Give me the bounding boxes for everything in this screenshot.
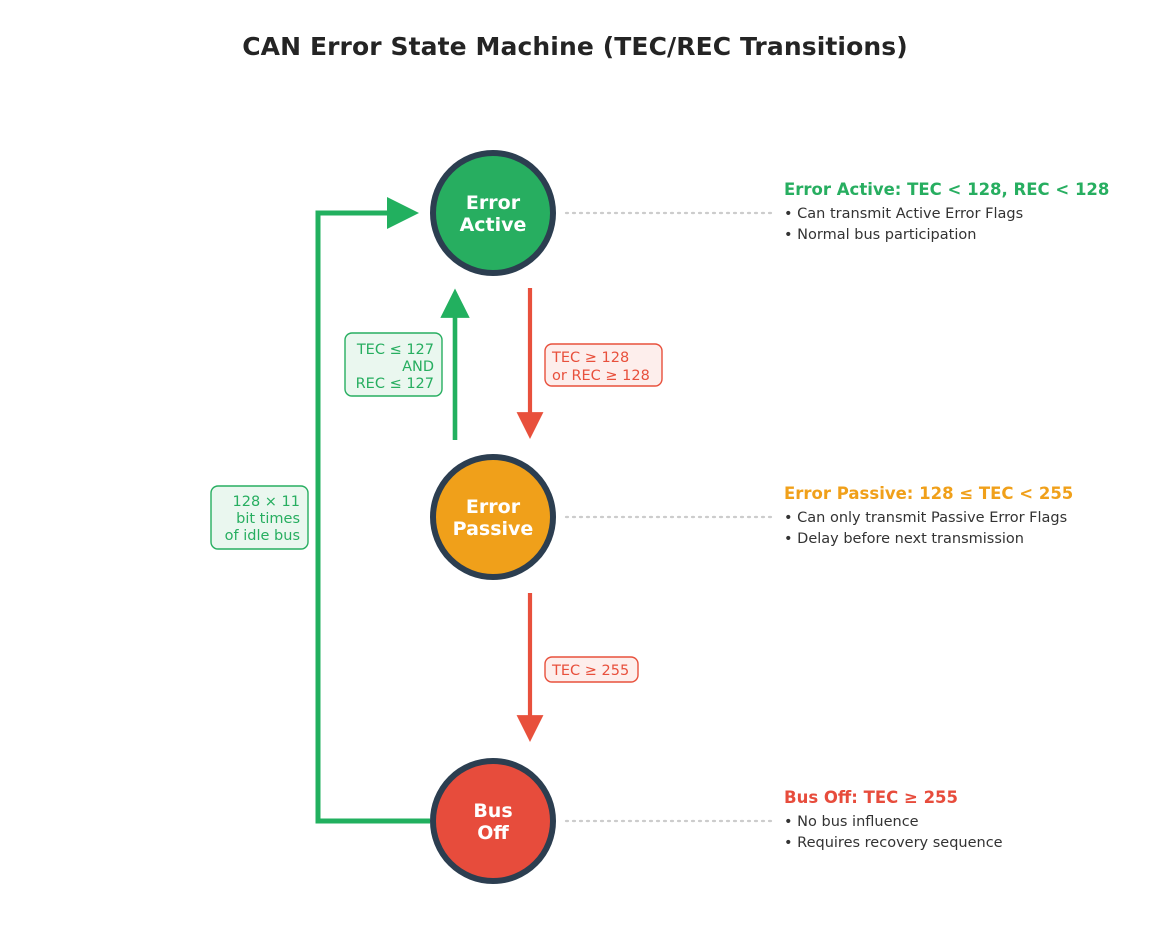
state-node-error-active[interactable]: Error Active — [433, 153, 553, 273]
transition-label-passive-to-busoff: TEC ≥ 255 — [545, 657, 638, 682]
annotation-bus-off-bullet-2: • Requires recovery sequence — [784, 833, 1003, 854]
transition-label-busoff-to-active-line2: bit times — [236, 511, 300, 527]
state-label-error-active-line2: Active — [460, 214, 527, 236]
transition-label-busoff-to-active-line3: of idle bus — [225, 528, 300, 544]
state-node-bus-off[interactable]: Bus Off — [433, 761, 553, 881]
transition-label-active-to-passive: TEC ≥ 128 or REC ≥ 128 — [545, 344, 662, 386]
annotation-bus-off: Bus Off: TEC ≥ 255 • No bus influence • … — [784, 788, 1003, 853]
transition-label-passive-to-active-line2: AND — [402, 359, 434, 375]
can-error-state-machine-diagram: CAN Error State Machine (TEC/REC Transit… — [0, 0, 1150, 947]
state-label-error-passive-line1: Error — [466, 496, 521, 518]
transition-label-active-to-passive-line2: or REC ≥ 128 — [552, 368, 650, 384]
annotation-bus-off-title: Bus Off: TEC ≥ 255 — [784, 788, 1003, 807]
transition-label-active-to-passive-line1: TEC ≥ 128 — [551, 350, 629, 366]
transition-label-passive-to-active-line3: REC ≤ 127 — [356, 376, 434, 392]
annotation-error-passive-bullet-2: • Delay before next transmission — [784, 529, 1073, 550]
annotation-error-passive-bullet-1: • Can only transmit Passive Error Flags — [784, 508, 1073, 529]
annotation-error-active: Error Active: TEC < 128, REC < 128 • Can… — [784, 180, 1109, 245]
transition-label-passive-to-active: TEC ≤ 127 AND REC ≤ 127 — [345, 333, 442, 396]
state-node-error-passive[interactable]: Error Passive — [433, 457, 553, 577]
edge-busoff-to-error-active — [318, 213, 430, 821]
transition-label-busoff-to-active-line1: 128 × 11 — [233, 494, 301, 510]
transition-label-passive-to-busoff-line1: TEC ≥ 255 — [551, 663, 629, 679]
state-label-bus-off-line2: Off — [477, 822, 509, 844]
transition-label-passive-to-active-line1: TEC ≤ 127 — [356, 342, 434, 358]
state-label-error-active-line1: Error — [466, 192, 521, 214]
annotation-error-active-bullet-1: • Can transmit Active Error Flags — [784, 204, 1109, 225]
state-label-error-passive-line2: Passive — [453, 518, 534, 540]
annotation-error-passive-title: Error Passive: 128 ≤ TEC < 255 — [784, 484, 1073, 503]
annotation-error-active-title: Error Active: TEC < 128, REC < 128 — [784, 180, 1109, 199]
annotation-error-active-bullet-2: • Normal bus participation — [784, 225, 1109, 246]
annotation-error-passive: Error Passive: 128 ≤ TEC < 255 • Can onl… — [784, 484, 1073, 549]
annotation-bus-off-bullet-1: • No bus influence — [784, 812, 1003, 833]
state-label-bus-off-line1: Bus — [473, 800, 512, 822]
transition-label-busoff-to-active: 128 × 11 bit times of idle bus — [211, 486, 308, 549]
